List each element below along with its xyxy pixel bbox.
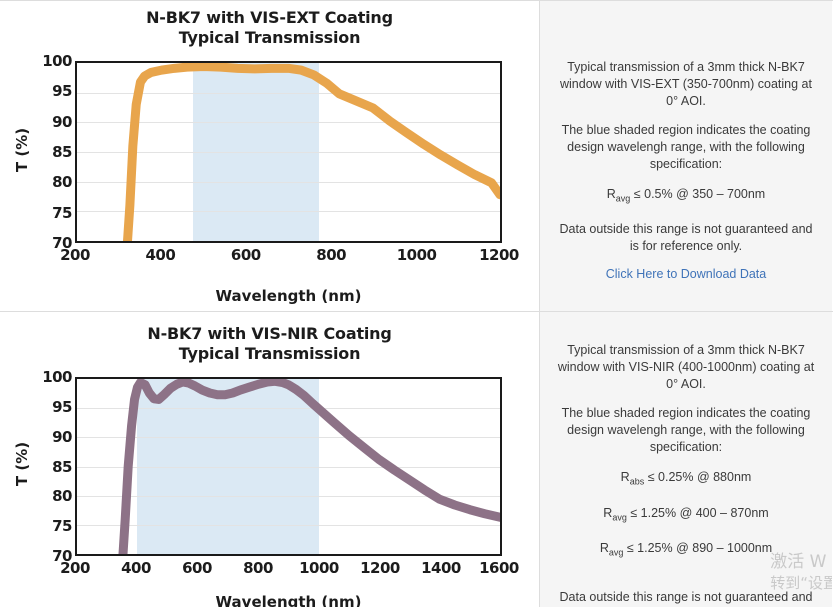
x-tick-600: 600 [231, 246, 261, 264]
y-tick-85: 85 [30, 143, 72, 161]
x-tick-1400: 1400 [421, 559, 461, 577]
description-paragraph-3: Data outside this range is not guarantee… [554, 221, 818, 255]
spec-symbol: R [603, 506, 612, 520]
y-tick-95: 95 [30, 398, 72, 416]
description-paragraph-2: The blue shaded region indicates the coa… [554, 405, 818, 456]
spec-symbol: R [600, 541, 609, 555]
spec-block: Ravg ≤ 0.5% @ 350 – 700nm [554, 185, 818, 209]
x-axis-ticks: 200 400 600 800 1000 1200 [0, 246, 540, 266]
x-axis-label: Wavelength (nm) [75, 287, 502, 305]
x-axis-label: Wavelength (nm) [75, 593, 502, 607]
x-tick-1200: 1200 [360, 559, 400, 577]
download-data-link[interactable]: Click Here to Download Data [554, 267, 818, 281]
spec-line: Ravg ≤ 1.25% @ 890 – 1000nm [554, 539, 818, 563]
spec-subscript: abs [630, 477, 645, 487]
spec-value: ≤ 0.5% @ 350 – 700nm [630, 187, 765, 201]
transmission-curve-vis-ext [77, 63, 500, 241]
x-tick-400: 400 [145, 246, 175, 264]
plot-frame-vis-nir [75, 377, 502, 556]
description-inner: Typical transmission of a 3mm thick N-BK… [554, 312, 818, 607]
spec-value: ≤ 1.25% @ 400 – 870nm [627, 506, 769, 520]
y-tick-100: 100 [30, 52, 72, 70]
chart-cell-vis-ext: N-BK7 with VIS-EXT Coating Typical Trans… [0, 1, 540, 311]
panel-vis-ext: N-BK7 with VIS-EXT Coating Typical Trans… [0, 0, 833, 311]
spec-line: Rabs ≤ 0.25% @ 880nm [554, 468, 818, 492]
x-tick-600: 600 [182, 559, 212, 577]
chart-title-vis-nir: N-BK7 with VIS-NIR Coating Typical Trans… [0, 312, 539, 364]
chart-title-line2: Typical Transmission [0, 28, 539, 48]
y-tick-90: 90 [30, 113, 72, 131]
description-inner: Typical transmission of a 3mm thick N-BK… [554, 1, 818, 281]
y-tick-95: 95 [30, 82, 72, 100]
page-root: N-BK7 with VIS-EXT Coating Typical Trans… [0, 0, 833, 607]
description-cell-vis-nir: Typical transmission of a 3mm thick N-BK… [540, 312, 832, 607]
y-tick-85: 85 [30, 458, 72, 476]
chart-title-line2: Typical Transmission [0, 344, 539, 364]
x-tick-800: 800 [243, 559, 273, 577]
chart-title-line1: N-BK7 with VIS-EXT Coating [0, 8, 539, 28]
spec-block: Rabs ≤ 0.25% @ 880nm Ravg ≤ 1.25% @ 400 … [554, 468, 818, 563]
y-tick-80: 80 [30, 173, 72, 191]
x-tick-1000: 1000 [397, 246, 437, 264]
description-paragraph-1: Typical transmission of a 3mm thick N-BK… [554, 59, 818, 110]
plot-frame-vis-ext [75, 61, 502, 243]
spec-value: ≤ 0.25% @ 880nm [644, 470, 751, 484]
y-tick-75: 75 [30, 517, 72, 535]
panel-vis-nir: N-BK7 with VIS-NIR Coating Typical Trans… [0, 311, 833, 607]
spec-subscript: avg [609, 548, 624, 558]
y-tick-90: 90 [30, 428, 72, 446]
x-tick-800: 800 [316, 246, 346, 264]
description-paragraph-1: Typical transmission of a 3mm thick N-BK… [554, 342, 818, 393]
x-tick-200: 200 [60, 559, 90, 577]
spec-value: ≤ 1.25% @ 890 – 1000nm [623, 541, 772, 555]
x-tick-1000: 1000 [299, 559, 339, 577]
spec-subscript: avg [612, 512, 627, 522]
chart-title-line1: N-BK7 with VIS-NIR Coating [0, 324, 539, 344]
spec-subscript: avg [616, 194, 631, 204]
x-tick-1200: 1200 [479, 246, 519, 264]
x-axis-ticks: 200 400 600 800 1000 1200 1400 1600 [0, 559, 540, 579]
plot-area-vis-ext: T (%) 100 95 90 85 80 75 70 [0, 48, 540, 288]
spec-symbol: R [607, 187, 616, 201]
chart-cell-vis-nir: N-BK7 with VIS-NIR Coating Typical Trans… [0, 312, 540, 607]
x-tick-200: 200 [60, 246, 90, 264]
x-tick-1600: 1600 [479, 559, 519, 577]
y-tick-75: 75 [30, 204, 72, 222]
y-tick-80: 80 [30, 487, 72, 505]
description-text: Typical transmission of a 3mm thick N-BK… [554, 342, 818, 607]
spec-symbol: R [621, 470, 630, 484]
y-tick-100: 100 [30, 368, 72, 386]
chart-title-vis-ext: N-BK7 with VIS-EXT Coating Typical Trans… [0, 1, 539, 48]
x-tick-400: 400 [121, 559, 151, 577]
description-text: Typical transmission of a 3mm thick N-BK… [554, 59, 818, 255]
plot-area-vis-nir: T (%) 100 95 90 85 80 75 70 [0, 364, 540, 596]
spec-line: Ravg ≤ 0.5% @ 350 – 700nm [554, 185, 818, 209]
spec-line: Ravg ≤ 1.25% @ 400 – 870nm [554, 504, 818, 528]
spacer [554, 575, 818, 589]
description-paragraph-2: The blue shaded region indicates the coa… [554, 122, 818, 173]
description-cell-vis-ext: Typical transmission of a 3mm thick N-BK… [540, 1, 832, 311]
transmission-curve-vis-nir [77, 379, 500, 554]
description-paragraph-3: Data outside this range is not guarantee… [554, 589, 818, 607]
